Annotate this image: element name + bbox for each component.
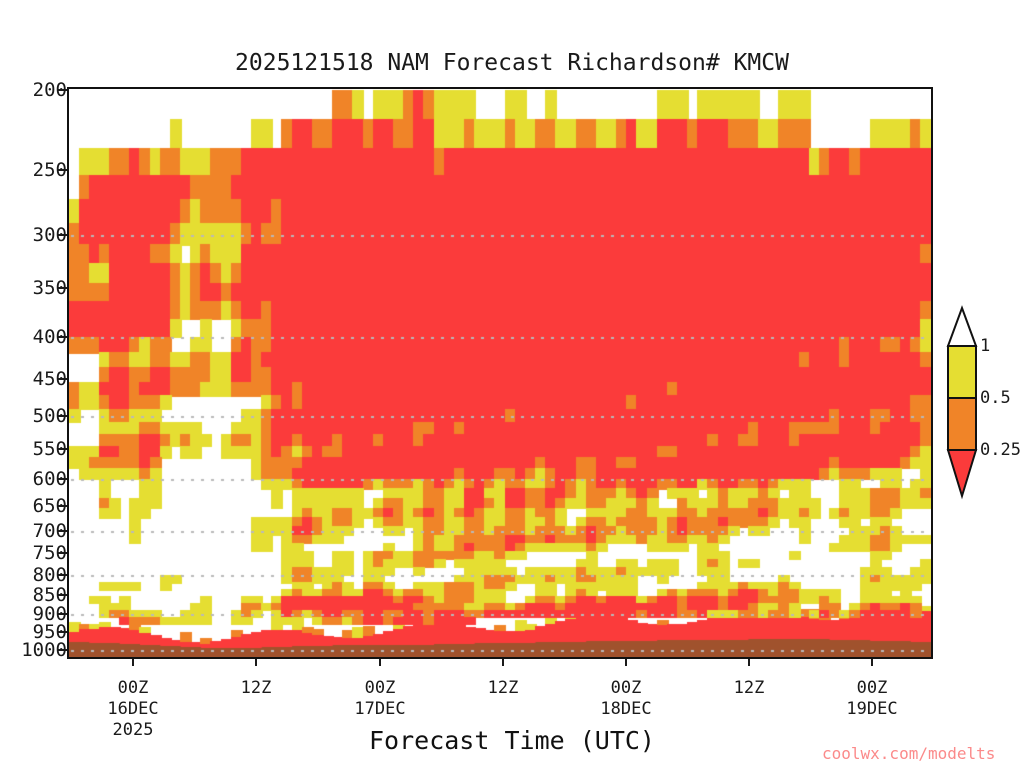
x-tick-mark-0 (132, 659, 134, 666)
colorbar-band-red (948, 450, 976, 496)
x-tick-time-5: 12Z (734, 678, 765, 699)
colorbar-band-orange (948, 398, 976, 450)
colorbar-label-1: 1 (980, 336, 990, 356)
x-tick-time-1: 12Z (241, 678, 272, 699)
x-tick-time-4: 00Z (600, 678, 651, 699)
x-tick-group-4: 00Z18DEC (600, 678, 651, 720)
x-tick-time-3: 12Z (488, 678, 519, 699)
x-tick-mark-6 (871, 659, 873, 666)
x-tick-time-0: 00Z (107, 678, 158, 699)
x-tick-group-6: 00Z19DEC (846, 678, 897, 720)
x-tick-group-2: 00Z17DEC (354, 678, 405, 720)
x-tick-date-2: 17DEC (354, 699, 405, 720)
colorbar-legend: 1 0.5 0.25 (938, 300, 1024, 510)
colorbar-label-0.25: 0.25 (980, 440, 1021, 460)
x-tick-mark-3 (502, 659, 504, 666)
x-tick-time-2: 00Z (354, 678, 405, 699)
x-tick-group-3: 12Z (488, 678, 519, 699)
x-tick-mark-2 (379, 659, 381, 666)
x-tick-mark-4 (625, 659, 627, 666)
x-tick-mark-1 (255, 659, 257, 666)
x-tick-group-1: 12Z (241, 678, 272, 699)
x-tick-date-0: 16DEC (107, 699, 158, 720)
x-tick-mark-5 (748, 659, 750, 666)
x-tick-time-6: 00Z (846, 678, 897, 699)
colorbar-band-above-1 (948, 308, 976, 346)
x-tick-date-4: 18DEC (600, 699, 651, 720)
watermark: coolwx.com/modelts (822, 744, 995, 763)
x-tick-date-6: 19DEC (846, 699, 897, 720)
x-axis: 00Z16DEC202512Z00Z17DEC12Z00Z18DEC12Z00Z… (0, 0, 1024, 768)
colorbar-label-0.5: 0.5 (980, 388, 1011, 408)
chart-page: 2025121518 NAM Forecast Richardson# KMCW… (0, 0, 1024, 768)
x-tick-group-5: 12Z (734, 678, 765, 699)
colorbar-band-yellow (948, 346, 976, 398)
